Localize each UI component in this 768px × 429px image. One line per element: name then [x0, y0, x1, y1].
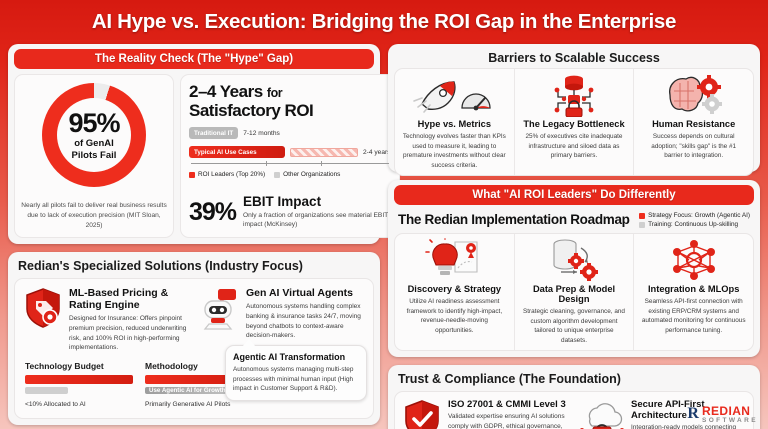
- trust-heading: Trust & Compliance (The Foundation): [394, 370, 754, 391]
- solutions-metrics: Technology Budget <10% Allocated to AI M…: [19, 353, 369, 410]
- roadmap-step-title-discovery: Discovery & Strategy: [408, 284, 502, 294]
- trust-body-api: Integration-ready models connecting with…: [631, 423, 745, 429]
- solution-title-virtual-agents: Gen AI Virtual Agents: [246, 287, 365, 299]
- left-column: The Reality Check (The "Hype" Gap) 95% o…: [8, 44, 380, 425]
- agentic-ai-callout: Agentic AI Transformation Autonomous sys…: [225, 345, 367, 401]
- barrier-title-legacy-bottleneck: The Legacy Bottleneck: [523, 119, 624, 129]
- barrier-item-hype-metrics: Hype vs. Metrics Technology evolves fast…: [395, 69, 514, 175]
- roadmap-legend-swatch-grey-icon: [639, 222, 645, 228]
- ebit-note: Only a fraction of organizations see mat…: [243, 211, 390, 230]
- donut-label-1: of GenAI: [68, 139, 119, 149]
- solutions-heading: Redian's Specialized Solutions (Industry…: [14, 257, 374, 278]
- database-lock-icon: [544, 73, 604, 117]
- barrier-body-human-resistance: Success depends on cultural adoption; "s…: [641, 132, 746, 161]
- logo-mark-icon: R: [687, 406, 699, 422]
- barriers-panel: Barriers to Scalable Success: [388, 44, 760, 172]
- roi-bar-traditional-label: Traditional IT: [189, 127, 238, 139]
- metric-bar-red-technology-budget: [25, 375, 133, 384]
- ebit-impact-block: 39% EBIT Impact Only a fraction of organ…: [189, 187, 391, 230]
- roi-leaders-panel: What "AI ROI Leaders" Do Differently The…: [388, 180, 760, 357]
- genai-failure-card: 95% of GenAI Pilots Fail Nearly all pilo…: [14, 74, 174, 238]
- ebit-title: EBIT Impact: [243, 195, 390, 209]
- database-gear-icon: [545, 238, 603, 282]
- roi-leaders-banner: What "AI ROI Leaders" Do Differently: [394, 185, 754, 205]
- roi-bar-traditional-value: 7-12 months: [243, 130, 280, 137]
- barrier-body-hype-metrics: Technology evolves faster than KPIs used…: [402, 132, 507, 170]
- solution-body-ml-pricing: Designed for Insurance: Offers pinpoint …: [69, 314, 190, 353]
- donut-label-2: Pilots Fail: [68, 151, 119, 161]
- legend-label-roi-leaders: ROI Leaders (Top 20%): [198, 171, 265, 178]
- roadmap-step-title-integration: Integration & MLOps: [648, 284, 739, 294]
- roi-bar-ai-extension: [290, 148, 358, 157]
- roadmap-step-discovery: Discovery & Strategy Utilize AI readines…: [395, 234, 514, 350]
- roadmap-legend: Strategy Focus: Growth (Agentic AI) Trai…: [639, 212, 750, 228]
- right-column: Barriers to Scalable Success: [388, 44, 760, 425]
- legend-label-other-orgs: Other Organizations: [283, 171, 340, 178]
- legend-swatch-red-icon: [189, 172, 195, 178]
- roi-bar-ai: Typical AI Use Cases 2-4 years: [189, 146, 391, 158]
- roadmap-step-body-discovery: Utilize AI readiness assessment framewor…: [402, 297, 507, 335]
- roi-timeline-card: 2–4 Years for Satisfactory ROI Tradition…: [180, 74, 400, 238]
- shield-check-icon: [403, 399, 441, 429]
- solutions-panel: Redian's Specialized Solutions (Industry…: [8, 252, 380, 425]
- roi-legend: ROI Leaders (Top 20%) Other Organization…: [189, 171, 391, 178]
- roadmap-step-title-data-prep: Data Prep & Model Design: [522, 284, 627, 304]
- reality-check-panel: The Reality Check (The "Hype" Gap) 95% o…: [8, 44, 380, 244]
- roadmap-legend-label-training: Training: Continuous Up-skilling: [648, 221, 738, 228]
- barrier-item-legacy-bottleneck: The Legacy Bottleneck 25% of executives …: [514, 69, 634, 175]
- solution-title-ml-pricing: ML-Based Pricing & Rating Engine: [69, 287, 190, 311]
- solutions-grid: ML-Based Pricing & Rating Engine Designe…: [19, 285, 369, 353]
- rocket-gauge-icon: [410, 73, 498, 117]
- trust-body-iso: Validated expertise ensuring AI solution…: [448, 412, 570, 429]
- metric-bar-grey-technology-budget: [25, 387, 68, 394]
- barriers-grid: Hype vs. Metrics Technology evolves fast…: [394, 68, 754, 176]
- roadmap-header: The Redian Implementation Roadmap Strate…: [394, 210, 754, 233]
- cloud-lock-icon: [578, 399, 624, 429]
- metric-caption-technology-budget: <10% Allocated to AI: [25, 401, 133, 408]
- roi-headline: 2–4 Years for Satisfactory ROI: [189, 82, 391, 120]
- roadmap-legend-item-training: Training: Continuous Up-skilling: [639, 221, 750, 228]
- barriers-heading: Barriers to Scalable Success: [394, 49, 754, 68]
- genai-failure-donut-chart: 95% of GenAI Pilots Fail: [42, 83, 146, 187]
- roi-headline-small: for: [267, 86, 282, 100]
- donut-percent: 95%: [68, 110, 119, 137]
- page-title: AI Hype vs. Execution: Bridging the ROI …: [92, 10, 676, 34]
- roi-bar-ai-label: Typical AI Use Cases: [189, 146, 285, 158]
- roadmap-title: The Redian Implementation Roadmap: [398, 212, 630, 227]
- metric-technology-budget: Technology Budget <10% Allocated to AI: [25, 361, 133, 408]
- callout-title: Agentic AI Transformation: [233, 352, 359, 362]
- solution-body-virtual-agents: Autonomous systems handling complex bank…: [246, 302, 365, 341]
- barrier-title-hype-metrics: Hype vs. Metrics: [418, 119, 491, 129]
- roadmap-step-integration: Integration & MLOps Seamless API-first c…: [633, 234, 753, 350]
- infographic-board: The Reality Check (The "Hype" Gap) 95% o…: [0, 44, 768, 425]
- brain-gears-icon: [662, 73, 726, 117]
- trust-title-iso: ISO 27001 & CMMI Level 3: [448, 399, 570, 410]
- roadmap-step-data-prep: Data Prep & Model Design Strategic clean…: [514, 234, 634, 350]
- robot-icon: [198, 287, 240, 353]
- trust-item-iso: ISO 27001 & CMMI Level 3 Validated exper…: [403, 399, 570, 429]
- legend-swatch-grey-icon: [274, 172, 280, 178]
- reality-check-banner: The Reality Check (The "Hype" Gap): [14, 49, 374, 69]
- lightbulb-map-icon: [425, 238, 483, 282]
- barrier-title-human-resistance: Human Resistance: [652, 119, 735, 129]
- logo-wordmark-secondary: SOFTWARE: [702, 418, 758, 425]
- roi-headline-strong: 2–4 Years: [189, 82, 263, 101]
- barrier-body-legacy-bottleneck: 25% of executives cite inadequate infras…: [522, 132, 627, 161]
- ebit-percent: 39%: [189, 200, 236, 225]
- roadmap-step-body-data-prep: Strategic cleaning, governance, and cust…: [522, 307, 627, 345]
- solution-item-ml-pricing: ML-Based Pricing & Rating Engine Designe…: [23, 287, 190, 353]
- donut-source-note: Nearly all pilots fail to deliver real b…: [21, 195, 167, 231]
- roadmap-steps: Discovery & Strategy Utilize AI readines…: [394, 233, 754, 351]
- roi-headline-line2: Satisfactory ROI: [189, 101, 313, 120]
- legend-item-roi-leaders: ROI Leaders (Top 20%): [189, 171, 265, 178]
- page-header: AI Hype vs. Execution: Bridging the ROI …: [0, 0, 768, 44]
- roadmap-legend-label-strategy: Strategy Focus: Growth (Agentic AI): [648, 212, 750, 219]
- barrier-item-human-resistance: Human Resistance Success depends on cult…: [633, 69, 753, 175]
- roi-bar-traditional: Traditional IT 7-12 months: [189, 127, 391, 139]
- metric-title-technology-budget: Technology Budget: [25, 361, 133, 371]
- legend-item-other-orgs: Other Organizations: [274, 171, 340, 178]
- network-nodes-icon: [668, 238, 720, 282]
- solution-item-virtual-agents: Gen AI Virtual Agents Autonomous systems…: [198, 287, 365, 353]
- roi-bar-ai-value: 2-4 years: [363, 149, 391, 156]
- roadmap-legend-swatch-red-icon: [639, 213, 645, 219]
- roadmap-legend-item-strategy: Strategy Focus: Growth (Agentic AI): [639, 212, 750, 219]
- redian-software-logo: R REDIAN SOFTWARE: [687, 405, 758, 425]
- metric-caption-methodology: Primarily Generative AI Pilots: [145, 401, 253, 408]
- logo-wordmark-primary: REDIAN: [702, 405, 758, 417]
- callout-body: Autonomous systems managing multi-step p…: [233, 365, 359, 394]
- shield-pricing-icon: [23, 287, 63, 353]
- roi-axis: [191, 163, 389, 164]
- roadmap-step-body-integration: Seamless API-first connection with exist…: [641, 297, 746, 335]
